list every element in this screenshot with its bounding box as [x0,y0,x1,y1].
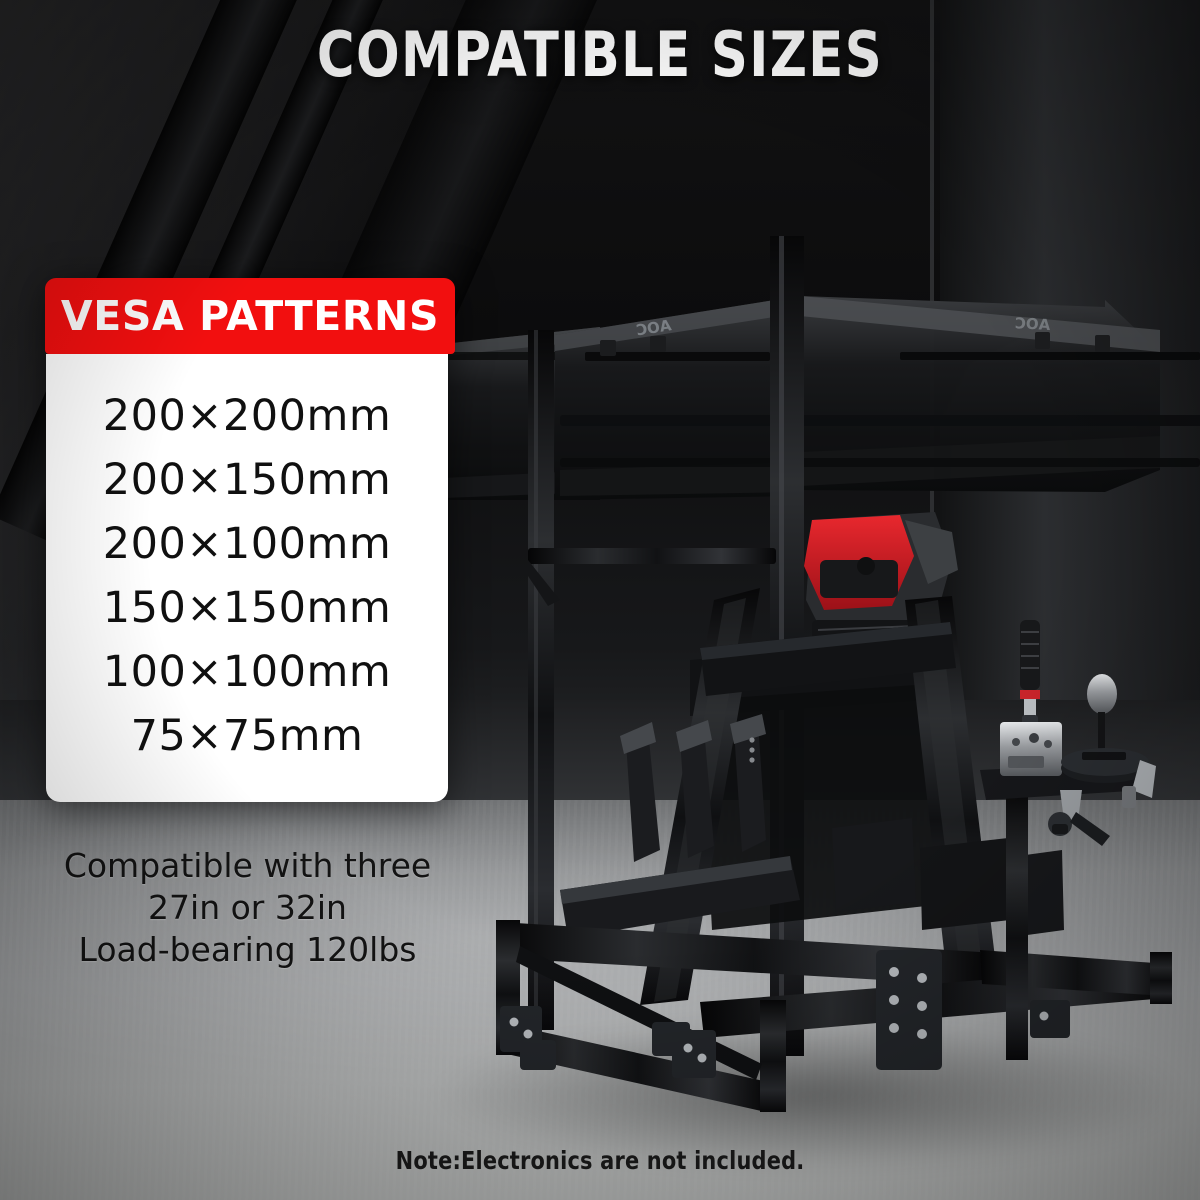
spec-line: Load-bearing 120lbs [45,929,450,971]
spec-line: Compatible with three [45,845,450,887]
list-item: 100×100mm [46,640,448,704]
handbrake [1000,620,1062,776]
vesa-card-header: VESA PATTERNS [45,278,455,354]
spec-line: 27in or 32in [45,887,450,929]
vesa-card-header-label: VESA PATTERNS [61,292,439,340]
monitor-center: AOC [555,296,800,500]
svg-text:AOC: AOC [1014,314,1050,334]
vesa-pattern-list: 200×200mm 200×150mm 200×100mm 150×150mm … [46,354,448,802]
compatibility-spec-block: Compatible with three 27in or 32in Load-… [45,845,450,971]
vesa-patterns-card: VESA PATTERNS 200×200mm 200×150mm 200×10… [45,278,455,802]
page-title: COMPATIBLE SIZES [48,18,1152,91]
list-item: 200×100mm [46,512,448,576]
list-item: 150×150mm [46,576,448,640]
monitor-array: AOC AOC [443,296,1200,500]
side-plate-left [832,818,916,912]
base-frame [496,920,1172,1112]
list-item: 200×200mm [46,384,448,448]
list-item: 75×75mm [46,704,448,768]
footer-note: Note:Electronics are not included. [42,1146,1158,1175]
list-item: 200×150mm [46,448,448,512]
seat-pan-plate [920,838,1010,930]
